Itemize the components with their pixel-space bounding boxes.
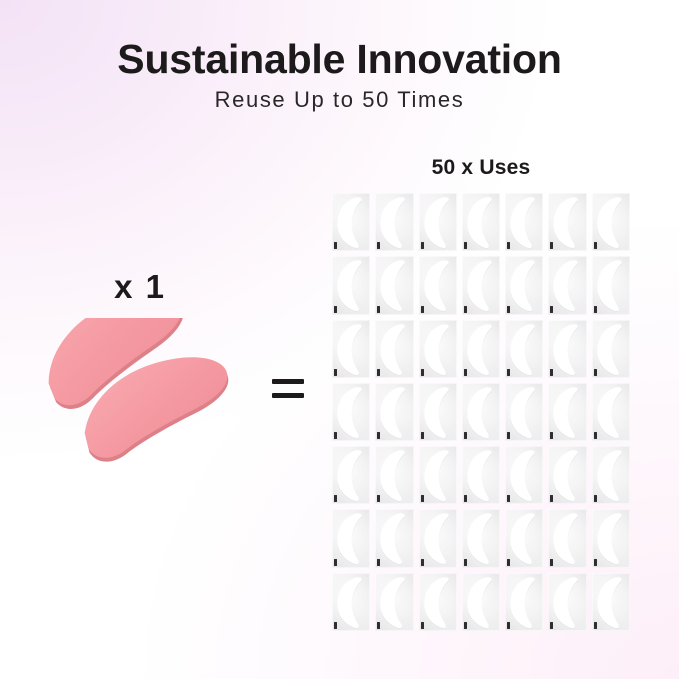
packet-tear-notch-icon	[507, 432, 510, 439]
packet-patch-crescent-icon	[592, 573, 630, 631]
packet-patch-crescent-icon	[419, 320, 457, 378]
packet-tear-notch-icon	[464, 242, 467, 249]
packet-patch-crescent-icon	[375, 320, 413, 378]
equals-sign-icon	[272, 376, 306, 404]
packet-cell	[375, 383, 413, 441]
packet-cell	[375, 573, 413, 631]
packet-patch-crescent-icon	[505, 193, 543, 251]
packet-cell	[462, 383, 500, 441]
packet-tear-notch-icon	[377, 495, 380, 502]
packet-tear-notch-icon	[594, 369, 597, 376]
packet-patch-crescent-icon	[592, 256, 630, 314]
packet-tear-notch-icon	[550, 432, 553, 439]
packet-patch-crescent-icon	[505, 573, 543, 631]
packet-patch-crescent-icon	[505, 446, 543, 504]
packet-cell	[419, 446, 457, 504]
packet-patch-crescent-icon	[375, 573, 413, 631]
packet-patch-crescent-icon	[462, 320, 500, 378]
packet-tear-notch-icon	[334, 559, 337, 566]
packet-tear-notch-icon	[334, 242, 337, 249]
page-subtitle: Reuse Up to 50 Times	[0, 87, 679, 112]
packet-tear-notch-icon	[334, 622, 337, 629]
packet-tear-notch-icon	[334, 306, 337, 313]
packet-tear-notch-icon	[464, 306, 467, 313]
packet-cell	[332, 193, 370, 251]
packet-patch-crescent-icon	[592, 320, 630, 378]
left-multiplier-label: x 1	[60, 268, 220, 306]
packet-tear-notch-icon	[377, 559, 380, 566]
packet-patch-crescent-icon	[419, 446, 457, 504]
packet-cell	[419, 383, 457, 441]
reusable-patch-illustration	[18, 318, 248, 483]
packet-patch-crescent-icon	[462, 193, 500, 251]
packet-patch-crescent-icon	[419, 193, 457, 251]
packet-patch-crescent-icon	[419, 509, 457, 567]
packet-cell	[592, 509, 630, 567]
packet-cell	[548, 193, 586, 251]
packet-tear-notch-icon	[464, 559, 467, 566]
packet-patch-crescent-icon	[548, 509, 586, 567]
packet-cell	[505, 256, 543, 314]
packet-cell	[505, 193, 543, 251]
packet-tear-notch-icon	[421, 242, 424, 249]
packet-patch-crescent-icon	[332, 256, 370, 314]
packet-cell	[375, 256, 413, 314]
packet-patch-crescent-icon	[332, 383, 370, 441]
packet-tear-notch-icon	[550, 242, 553, 249]
packet-tear-notch-icon	[334, 432, 337, 439]
packet-patch-crescent-icon	[462, 446, 500, 504]
packet-cell	[505, 383, 543, 441]
packet-cell	[462, 256, 500, 314]
packet-cell	[505, 509, 543, 567]
packet-patch-crescent-icon	[332, 509, 370, 567]
packet-patch-crescent-icon	[419, 383, 457, 441]
packet-patch-crescent-icon	[505, 320, 543, 378]
packet-patch-crescent-icon	[462, 573, 500, 631]
packet-cell	[592, 573, 630, 631]
infographic-canvas: Sustainable Innovation Reuse Up to 50 Ti…	[0, 0, 679, 679]
packet-tear-notch-icon	[594, 622, 597, 629]
packet-patch-crescent-icon	[505, 509, 543, 567]
packet-cell	[332, 383, 370, 441]
packet-tear-notch-icon	[550, 369, 553, 376]
packet-cell	[375, 320, 413, 378]
packet-tear-notch-icon	[550, 306, 553, 313]
packet-cell	[375, 446, 413, 504]
packet-tear-notch-icon	[334, 369, 337, 376]
packet-cell	[592, 320, 630, 378]
packet-tear-notch-icon	[421, 559, 424, 566]
packet-patch-crescent-icon	[592, 509, 630, 567]
packet-cell	[332, 446, 370, 504]
packet-cell	[462, 573, 500, 631]
packet-tear-notch-icon	[334, 495, 337, 502]
packet-patch-crescent-icon	[332, 573, 370, 631]
packet-cell	[332, 573, 370, 631]
packet-tear-notch-icon	[550, 495, 553, 502]
packet-tear-notch-icon	[421, 306, 424, 313]
packet-patch-crescent-icon	[375, 193, 413, 251]
packet-cell	[548, 573, 586, 631]
disposable-packet-grid	[332, 193, 630, 631]
packet-tear-notch-icon	[594, 495, 597, 502]
packet-tear-notch-icon	[507, 495, 510, 502]
packet-cell	[548, 509, 586, 567]
packet-tear-notch-icon	[594, 432, 597, 439]
packet-patch-crescent-icon	[548, 256, 586, 314]
packet-cell	[548, 256, 586, 314]
packet-tear-notch-icon	[377, 432, 380, 439]
uses-count-heading: 50 x Uses	[332, 156, 630, 180]
packet-tear-notch-icon	[421, 495, 424, 502]
packet-cell	[419, 256, 457, 314]
packet-cell	[375, 509, 413, 567]
packet-tear-notch-icon	[421, 622, 424, 629]
packet-cell	[505, 446, 543, 504]
packet-patch-crescent-icon	[592, 383, 630, 441]
packet-patch-crescent-icon	[548, 446, 586, 504]
packet-patch-crescent-icon	[462, 509, 500, 567]
packet-cell	[375, 193, 413, 251]
packet-tear-notch-icon	[377, 369, 380, 376]
packet-patch-crescent-icon	[419, 573, 457, 631]
packet-tear-notch-icon	[594, 559, 597, 566]
packet-cell	[462, 193, 500, 251]
packet-patch-crescent-icon	[375, 383, 413, 441]
packet-cell	[419, 193, 457, 251]
packet-cell	[419, 509, 457, 567]
packet-tear-notch-icon	[421, 369, 424, 376]
page-title: Sustainable Innovation	[0, 38, 679, 81]
packet-patch-crescent-icon	[548, 320, 586, 378]
packet-patch-crescent-icon	[375, 509, 413, 567]
packet-patch-crescent-icon	[375, 446, 413, 504]
packet-cell	[548, 446, 586, 504]
packet-tear-notch-icon	[550, 559, 553, 566]
packet-tear-notch-icon	[464, 432, 467, 439]
packet-cell	[592, 193, 630, 251]
packet-tear-notch-icon	[507, 559, 510, 566]
packet-patch-crescent-icon	[505, 383, 543, 441]
packet-tear-notch-icon	[377, 306, 380, 313]
packet-tear-notch-icon	[464, 495, 467, 502]
packet-patch-crescent-icon	[592, 446, 630, 504]
packet-patch-crescent-icon	[548, 383, 586, 441]
packet-patch-crescent-icon	[462, 256, 500, 314]
packet-cell	[332, 509, 370, 567]
packet-cell	[332, 256, 370, 314]
packet-tear-notch-icon	[507, 242, 510, 249]
packet-cell	[419, 573, 457, 631]
packet-cell	[505, 320, 543, 378]
packet-cell	[592, 446, 630, 504]
packet-tear-notch-icon	[507, 622, 510, 629]
packet-tear-notch-icon	[550, 622, 553, 629]
packet-patch-crescent-icon	[548, 573, 586, 631]
packet-cell	[592, 383, 630, 441]
packet-patch-crescent-icon	[505, 256, 543, 314]
packet-cell	[548, 383, 586, 441]
packet-tear-notch-icon	[421, 432, 424, 439]
packet-cell	[332, 320, 370, 378]
packet-cell	[419, 320, 457, 378]
packet-cell	[548, 320, 586, 378]
packet-tear-notch-icon	[464, 369, 467, 376]
packet-patch-crescent-icon	[592, 193, 630, 251]
equals-bar-top	[272, 379, 304, 384]
packet-tear-notch-icon	[594, 306, 597, 313]
packet-tear-notch-icon	[594, 242, 597, 249]
packet-cell	[462, 509, 500, 567]
packet-patch-crescent-icon	[462, 383, 500, 441]
packet-tear-notch-icon	[377, 242, 380, 249]
packet-cell	[462, 320, 500, 378]
equals-bar-bottom	[272, 393, 304, 398]
packet-tear-notch-icon	[507, 369, 510, 376]
packet-cell	[592, 256, 630, 314]
packet-patch-crescent-icon	[375, 256, 413, 314]
packet-tear-notch-icon	[507, 306, 510, 313]
packet-patch-crescent-icon	[419, 256, 457, 314]
packet-patch-crescent-icon	[548, 193, 586, 251]
packet-patch-crescent-icon	[332, 446, 370, 504]
packet-patch-crescent-icon	[332, 193, 370, 251]
packet-cell	[462, 446, 500, 504]
packet-tear-notch-icon	[464, 622, 467, 629]
packet-tear-notch-icon	[377, 622, 380, 629]
packet-cell	[505, 573, 543, 631]
packet-patch-crescent-icon	[332, 320, 370, 378]
